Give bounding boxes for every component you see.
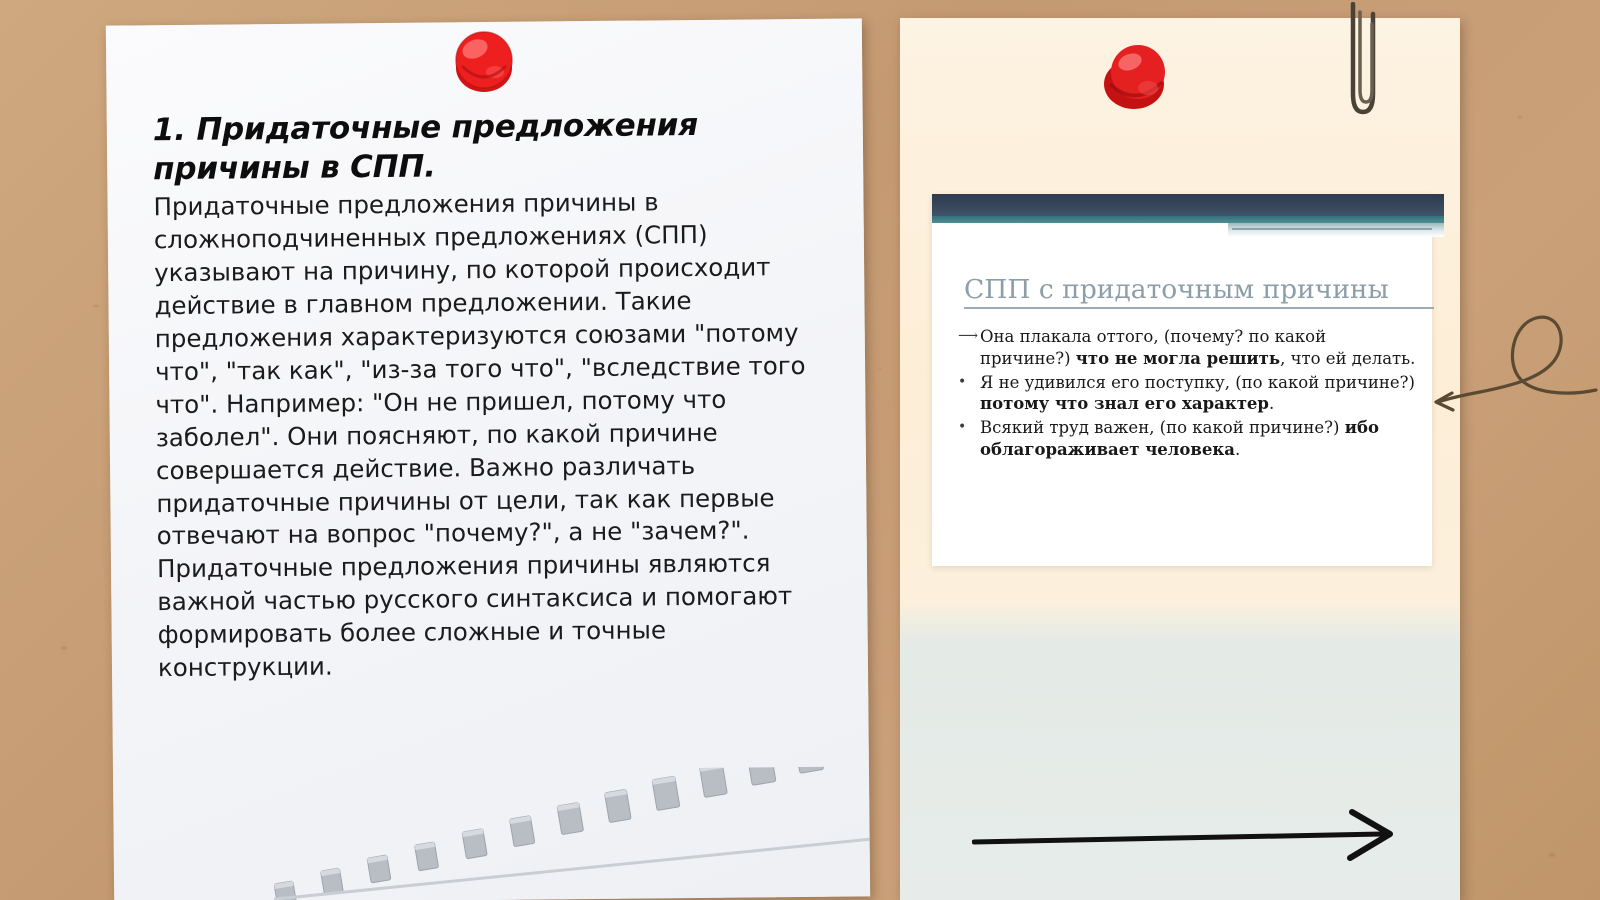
slide-header-accent-strip (932, 216, 1444, 223)
dot-bullet-icon: • (958, 417, 976, 437)
bullet-text-plain-2: , что ей делать. (1280, 349, 1415, 368)
dot-bullet-icon: • (958, 372, 976, 392)
bullet-text-plain-2: . (1269, 394, 1274, 413)
left-paper-note[interactable]: 1. Придаточные предложения причины в СПП… (106, 18, 870, 900)
bullet-text-bold: потому что знал его характер (980, 394, 1269, 413)
left-note-text-block: 1. Придаточные предложения причины в СПП… (153, 105, 830, 686)
slide-bullet-list: ⟶ Она плакала оттого, (почему? по какой … (954, 326, 1416, 463)
slide-bullet-item: • Я не удивился его поступку, (по какой … (954, 372, 1416, 416)
right-arrow-icon (972, 808, 1414, 864)
curled-arrow-icon (1418, 272, 1600, 424)
arrow-bullet-icon: ⟶ (958, 326, 976, 346)
bullet-text-plain-2: . (1235, 440, 1240, 459)
pushpin-icon (448, 22, 520, 100)
slide-header-tab (1228, 223, 1444, 237)
pushpin-icon (1094, 32, 1178, 116)
paperclip-icon (1340, 2, 1386, 120)
bullet-text-bold: что не могла решить (1076, 349, 1280, 368)
right-paper-card[interactable]: СПП с придаточным причины ⟶ Она плакала … (900, 18, 1460, 900)
slide-header-tab-line (1232, 228, 1432, 230)
slide-thumbnail[interactable]: СПП с придаточным причины ⟶ Она плакала … (932, 194, 1432, 566)
slide-bullet-item: ⟶ Она плакала оттого, (почему? по какой … (954, 326, 1416, 370)
comb-binding-teeth (273, 766, 870, 900)
bullet-text-plain-1: Я не удивился его поступку, (по какой пр… (980, 373, 1415, 392)
left-note-heading: 1. Придаточные предложения причины в СПП… (153, 105, 826, 190)
slide-header-bar (932, 194, 1444, 216)
slide-bullet-item: • Всякий труд важен, (по какой причине?)… (954, 417, 1416, 461)
left-note-body-text: Придаточные предложения причины в сложно… (153, 185, 830, 685)
cork-board: 1. Придаточные предложения причины в СПП… (0, 0, 1600, 900)
bullet-text-plain-1: Всякий труд важен, (по какой причине?) (980, 418, 1345, 437)
slide-title: СПП с придаточным причины (964, 274, 1434, 309)
